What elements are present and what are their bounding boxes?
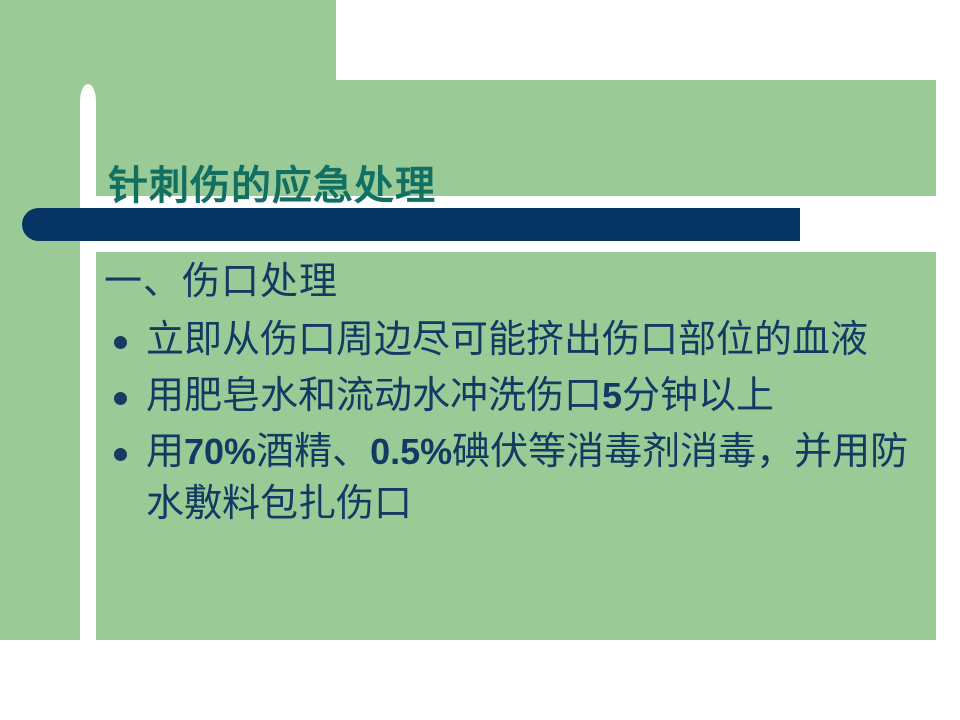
bullet-text: 立即从伤口周边尽可能挤出伤口部位的血液 [146, 314, 934, 366]
white-notch-top-right [336, 0, 960, 80]
slide-title: 针刺伤的应急处理 [108, 162, 908, 210]
bullet-text: 用肥皂水和流动水冲洗伤口5分钟以上 [146, 370, 934, 422]
bullet-dot-icon [114, 448, 127, 461]
navy-accent-bar [22, 208, 800, 241]
white-vertical-gap-fill [80, 110, 96, 640]
green-left-column [0, 0, 80, 720]
section-heading: 一、伤口处理 [104, 256, 934, 308]
white-bottom-band [0, 640, 960, 720]
bullet-dot-icon [114, 392, 127, 405]
bullet-item: 用肥皂水和流动水冲洗伤口5分钟以上 [104, 370, 934, 422]
slide-canvas: 针刺伤的应急处理 一、伤口处理 立即从伤口周边尽可能挤出伤口部位的血液 用肥皂水… [0, 0, 960, 720]
slide-body: 一、伤口处理 立即从伤口周边尽可能挤出伤口部位的血液 用肥皂水和流动水冲洗伤口5… [104, 256, 934, 534]
bullet-list: 立即从伤口周边尽可能挤出伤口部位的血液 用肥皂水和流动水冲洗伤口5分钟以上 用7… [104, 314, 934, 530]
bullet-item: 立即从伤口周边尽可能挤出伤口部位的血液 [104, 314, 934, 366]
bullet-dot-icon [114, 336, 127, 349]
bullet-text: 用70%酒精、0.5%碘伏等消毒剂消毒，并用防水敷料包扎伤口 [146, 426, 934, 530]
bullet-item: 用70%酒精、0.5%碘伏等消毒剂消毒，并用防水敷料包扎伤口 [104, 426, 934, 530]
